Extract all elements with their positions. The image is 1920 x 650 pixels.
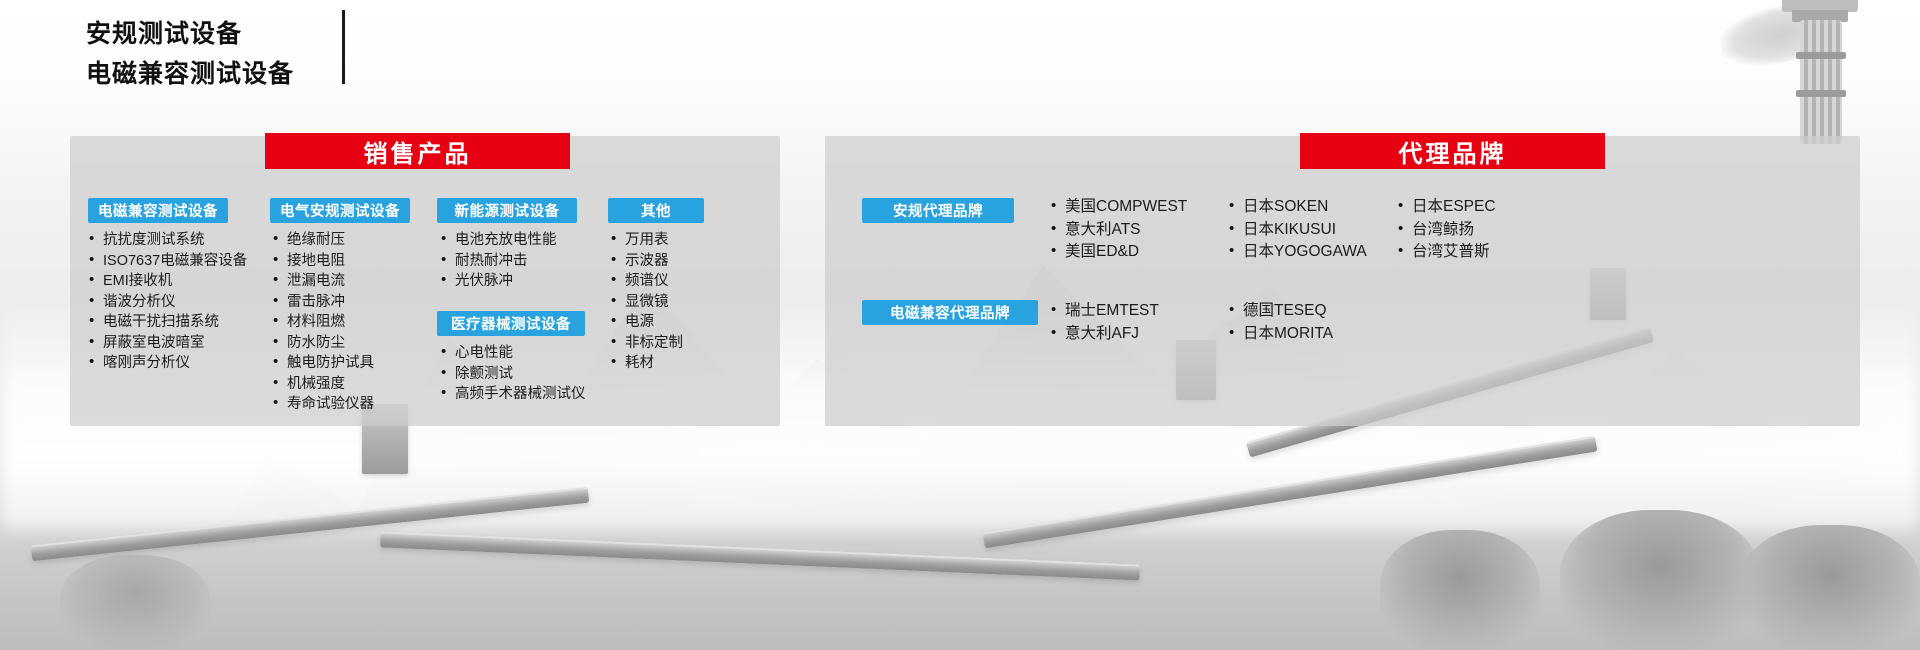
list-item: 除颤测试 xyxy=(440,364,586,385)
list-item: 瑞士EMTEST xyxy=(1050,300,1159,323)
list-item: 日本KIKUSUI xyxy=(1228,219,1367,242)
list-item: EMI接收机 xyxy=(88,271,247,292)
pillar-shaft xyxy=(1800,20,1842,144)
list-item: 示波器 xyxy=(610,251,683,272)
list-item: 美国COMPWEST xyxy=(1050,196,1187,219)
stone-pillar-ornament xyxy=(1766,0,1874,144)
list-item: 意大利ATS xyxy=(1050,219,1187,242)
list-safety-brands-col1: 美国COMPWEST 意大利ATS 美国ED&D xyxy=(1050,196,1187,264)
vertical-divider xyxy=(342,10,345,84)
tree-cluster-3 xyxy=(1740,525,1920,650)
list-safety-brands-col3: 日本ESPEC 台湾鲸扬 台湾艾普斯 xyxy=(1397,196,1496,264)
list-item: 显微镜 xyxy=(610,292,683,313)
list-item: 屏蔽室电波暗室 xyxy=(88,333,247,354)
list-item: 日本YOGOGAWA xyxy=(1228,241,1367,264)
list-new-energy: 电池充放电性能 耐热耐冲击 光伏脉冲 xyxy=(440,230,557,292)
list-item: 雷击脉冲 xyxy=(272,292,374,313)
list-item: ISO7637电磁兼容设备 xyxy=(88,251,247,272)
category-tag-others: 其他 xyxy=(608,198,704,223)
list-item: 高频手术器械测试仪 xyxy=(440,384,586,405)
list-item: 泄漏电流 xyxy=(272,271,374,292)
list-item: 防水防尘 xyxy=(272,333,374,354)
list-safety-brands-col2: 日本SOKEN 日本KIKUSUI 日本YOGOGAWA xyxy=(1228,196,1367,264)
list-item: 频谱仪 xyxy=(610,271,683,292)
pillar-band-1 xyxy=(1796,52,1846,59)
list-emc-equipment: 抗扰度测试系统 ISO7637电磁兼容设备 EMI接收机 谐波分析仪 电磁干扰扫… xyxy=(88,230,247,374)
list-item: 万用表 xyxy=(610,230,683,251)
agent-brands-panel xyxy=(825,136,1860,426)
list-item: 台湾鲸扬 xyxy=(1397,219,1496,242)
list-item: 日本SOKEN xyxy=(1228,196,1367,219)
category-tag-electrical-safety: 电气安规测试设备 xyxy=(270,198,410,223)
list-item: 电池充放电性能 xyxy=(440,230,557,251)
list-others: 万用表 示波器 频谱仪 显微镜 电源 非标定制 耗材 xyxy=(610,230,683,374)
list-item: 意大利AFJ xyxy=(1050,323,1159,346)
list-emc-brands-col1: 瑞士EMTEST 意大利AFJ xyxy=(1050,300,1159,345)
list-item: 寿命试验仪器 xyxy=(272,394,374,415)
category-tag-emc-equipment: 电磁兼容测试设备 xyxy=(88,198,228,223)
list-item: 日本MORITA xyxy=(1228,323,1333,346)
list-item: 台湾艾普斯 xyxy=(1397,241,1496,264)
agent-brands-banner: 代理品牌 xyxy=(1300,133,1605,169)
list-item: 材料阻燃 xyxy=(272,312,374,333)
list-item: 机械强度 xyxy=(272,374,374,395)
category-tag-medical-device: 医疗器械测试设备 xyxy=(437,311,585,336)
pillar-band-2 xyxy=(1796,90,1846,97)
page-title-line-2: 电磁兼容测试设备 xyxy=(86,54,416,94)
tree-cluster-1 xyxy=(1380,530,1540,650)
tree-cluster-4 xyxy=(60,555,210,650)
list-electrical-safety: 绝缘耐压 接地电阻 泄漏电流 雷击脉冲 材料阻燃 防水防尘 触电防护试具 机械强… xyxy=(272,230,374,415)
list-item: 谐波分析仪 xyxy=(88,292,247,313)
category-tag-emc-agent-brands: 电磁兼容代理品牌 xyxy=(862,300,1038,325)
list-item: 电磁干扰扫描系统 xyxy=(88,312,247,333)
page-title-line-1: 安规测试设备 xyxy=(86,14,416,54)
list-item: 接地电阻 xyxy=(272,251,374,272)
category-tag-safety-agent-brands: 安规代理品牌 xyxy=(862,198,1014,223)
list-item: 美国ED&D xyxy=(1050,241,1187,264)
category-tag-new-energy: 新能源测试设备 xyxy=(437,198,577,223)
list-item: 德国TESEQ xyxy=(1228,300,1333,323)
sales-products-banner: 销售产品 xyxy=(265,133,570,169)
list-item: 绝缘耐压 xyxy=(272,230,374,251)
page-title: 安规测试设备 电磁兼容测试设备 xyxy=(86,14,416,94)
list-emc-brands-col2: 德国TESEQ 日本MORITA xyxy=(1228,300,1333,345)
slide-canvas: 安规测试设备 电磁兼容测试设备 销售产品 电磁兼容测试设备 抗扰度测试系统 IS… xyxy=(0,0,1920,650)
list-item: 抗扰度测试系统 xyxy=(88,230,247,251)
list-item: 心电性能 xyxy=(440,343,586,364)
list-medical-device: 心电性能 除颤测试 高频手术器械测试仪 xyxy=(440,343,586,405)
tree-cluster-2 xyxy=(1560,510,1760,650)
list-item: 光伏脉冲 xyxy=(440,271,557,292)
list-item: 日本ESPEC xyxy=(1397,196,1496,219)
list-item: 耗材 xyxy=(610,353,683,374)
list-item: 非标定制 xyxy=(610,333,683,354)
list-item: 喀刚声分析仪 xyxy=(88,353,247,374)
list-item: 耐热耐冲击 xyxy=(440,251,557,272)
list-item: 触电防护试具 xyxy=(272,353,374,374)
list-item: 电源 xyxy=(610,312,683,333)
